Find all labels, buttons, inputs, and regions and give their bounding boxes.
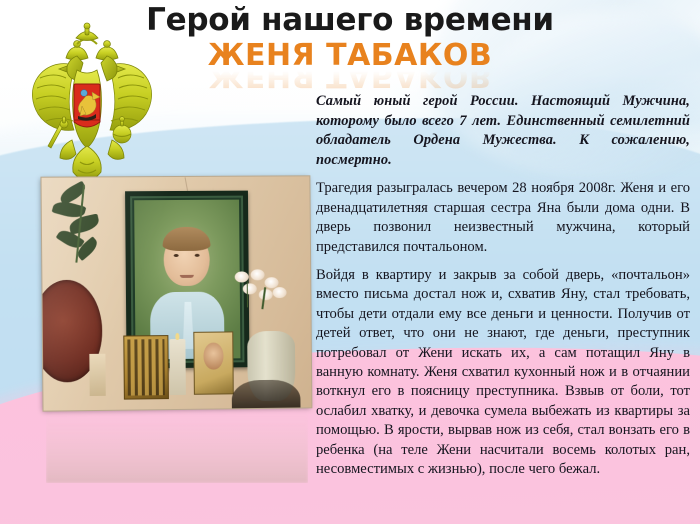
page-title: Герой нашего времени [0,2,700,38]
presentation-slide: Герой нашего времени ЖЕНЯ ТАБАКОВ ЖЕНЯ Т… [0,0,700,524]
photo-icon-right [193,332,233,395]
portrait-hair [163,227,211,251]
subtitle-block: ЖЕНЯ ТАБАКОВ ЖЕНЯ ТАБАКОВ [0,40,700,91]
photo-lilies [230,269,305,348]
memorial-photo-reflection [46,409,308,483]
memorial-photo-image [40,175,312,411]
subtitle: ЖЕНЯ ТАБАКОВ [0,40,700,72]
portrait-mouth [180,274,194,277]
photo-icon-left [124,335,170,400]
photo-foreground-shadow [231,380,300,409]
body-text-column: Самый юный герой России. Настоящий Мужчи… [316,92,690,479]
paragraph-1: Трагедия разыгралась вечером 28 ноября 2… [316,179,690,257]
memorial-photo [40,175,310,409]
subtitle-reflection: ЖЕНЯ ТАБАКОВ [0,69,700,91]
photo-candle-secondary [89,354,106,396]
photo-candle [169,339,186,395]
paragraph-2: Войдя в квартиру и закрыв за собой дверь… [316,266,690,479]
paragraph-lead: Самый юный герой России. Настоящий Мужчи… [316,92,690,170]
